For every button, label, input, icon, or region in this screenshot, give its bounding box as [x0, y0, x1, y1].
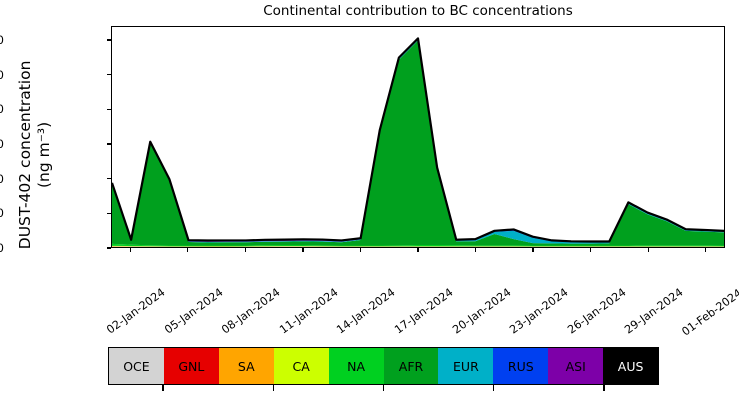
legend-label: NA: [347, 359, 365, 374]
y-tick-label: 3000: [0, 137, 4, 151]
chart-figure: Continental contribution to BC concentra…: [0, 0, 739, 402]
y-tick-label: 2000: [0, 172, 4, 186]
legend-swatch-na[interactable]: NA: [329, 348, 384, 384]
x-tick-label-text: 23-Jan-2024: [507, 286, 570, 337]
x-tick-mark: [648, 248, 649, 252]
x-tick-label-text: 17-Jan-2024: [392, 286, 455, 337]
y-axis-label: DUST-402 concentration (ng m⁻³): [16, 35, 54, 275]
x-tick-label: 02-Jan-2024: [143, 255, 206, 306]
plot-area: [111, 26, 725, 248]
x-tick-mark: [302, 248, 303, 252]
x-tick-label: 20-Jan-2024: [489, 255, 552, 306]
legend-label: GNL: [178, 359, 204, 374]
x-tick-label: 23-Jan-2024: [546, 255, 609, 306]
legend-label: AUS: [618, 359, 644, 374]
legend-swatch-gnl[interactable]: GNL: [164, 348, 219, 384]
y-tick-label: 6000: [0, 33, 4, 47]
x-tick-mark: [360, 248, 361, 252]
x-tick-mark: [245, 248, 246, 252]
legend-tick: [383, 385, 384, 391]
y-tick-label: 5000: [0, 68, 4, 82]
legend-swatch-sa[interactable]: SA: [219, 348, 274, 384]
y-tick-label: 4000: [0, 102, 4, 116]
x-tick-label-text: 29-Jan-2024: [623, 286, 686, 337]
x-tick-mark: [590, 248, 591, 252]
x-tick-label: 08-Jan-2024: [258, 255, 321, 306]
legend-colorbar: OCEGNLSACANAAFREURRUSASIAUS: [108, 347, 659, 385]
x-tick-label-text: 05-Jan-2024: [162, 286, 225, 337]
legend-tick: [493, 385, 494, 391]
legend-swatch-eur[interactable]: EUR: [438, 348, 493, 384]
x-tick-label-text: 14-Jan-2024: [335, 286, 398, 337]
legend-swatch-oce[interactable]: OCE: [109, 348, 164, 384]
x-tick-mark: [187, 248, 188, 252]
x-tick-label-text: 20-Jan-2024: [450, 286, 513, 337]
y-tick-label: 0: [0, 241, 4, 255]
x-tick-label: 11-Jan-2024: [316, 255, 379, 306]
legend-label: SA: [238, 359, 255, 374]
legend-label: OCE: [123, 359, 149, 374]
y-axis-label-line2: (ng m⁻³): [35, 122, 53, 188]
x-tick-label: 17-Jan-2024: [431, 255, 494, 306]
legend-label: EUR: [453, 359, 479, 374]
legend-colorbar-ticks: [108, 385, 659, 402]
legend-swatch-ca[interactable]: CA: [274, 348, 329, 384]
x-tick-label: 29-Jan-2024: [661, 255, 724, 306]
x-tick-mark: [475, 248, 476, 252]
stacked-area-plot: [112, 27, 724, 247]
legend-swatch-afr[interactable]: AFR: [384, 348, 439, 384]
legend-tick: [273, 385, 274, 391]
x-tick-label: 05-Jan-2024: [201, 255, 264, 306]
legend-label: ASI: [566, 359, 586, 374]
chart-title: Continental contribution to BC concentra…: [111, 3, 725, 19]
legend-tick: [162, 385, 163, 391]
x-tick-label-text: 08-Jan-2024: [220, 286, 283, 337]
x-tick-label-text: 02-Jan-2024: [104, 286, 167, 337]
x-tick-mark: [130, 248, 131, 252]
x-tick-label-text: 01-Feb-2024: [679, 286, 739, 338]
x-tick-mark: [532, 248, 533, 252]
legend-label: RUS: [508, 359, 534, 374]
y-axis-label-line1: DUST-402 concentration: [16, 61, 34, 250]
legend-label: CA: [293, 359, 310, 374]
x-tick-label-text: 26-Jan-2024: [565, 286, 628, 337]
legend-swatch-rus[interactable]: RUS: [493, 348, 548, 384]
legend-label: AFR: [399, 359, 423, 374]
x-tick-mark: [417, 248, 418, 252]
y-tick-label: 1000: [0, 206, 4, 220]
x-tick-mark: [705, 248, 706, 252]
x-tick-label-text: 11-Jan-2024: [277, 286, 340, 337]
legend-tick: [603, 385, 604, 391]
area-layer-afr: [112, 40, 724, 245]
x-tick-label: 26-Jan-2024: [604, 255, 667, 306]
legend-swatch-asi[interactable]: ASI: [548, 348, 603, 384]
legend-swatch-aus[interactable]: AUS: [603, 348, 658, 384]
x-tick-label: 14-Jan-2024: [374, 255, 437, 306]
